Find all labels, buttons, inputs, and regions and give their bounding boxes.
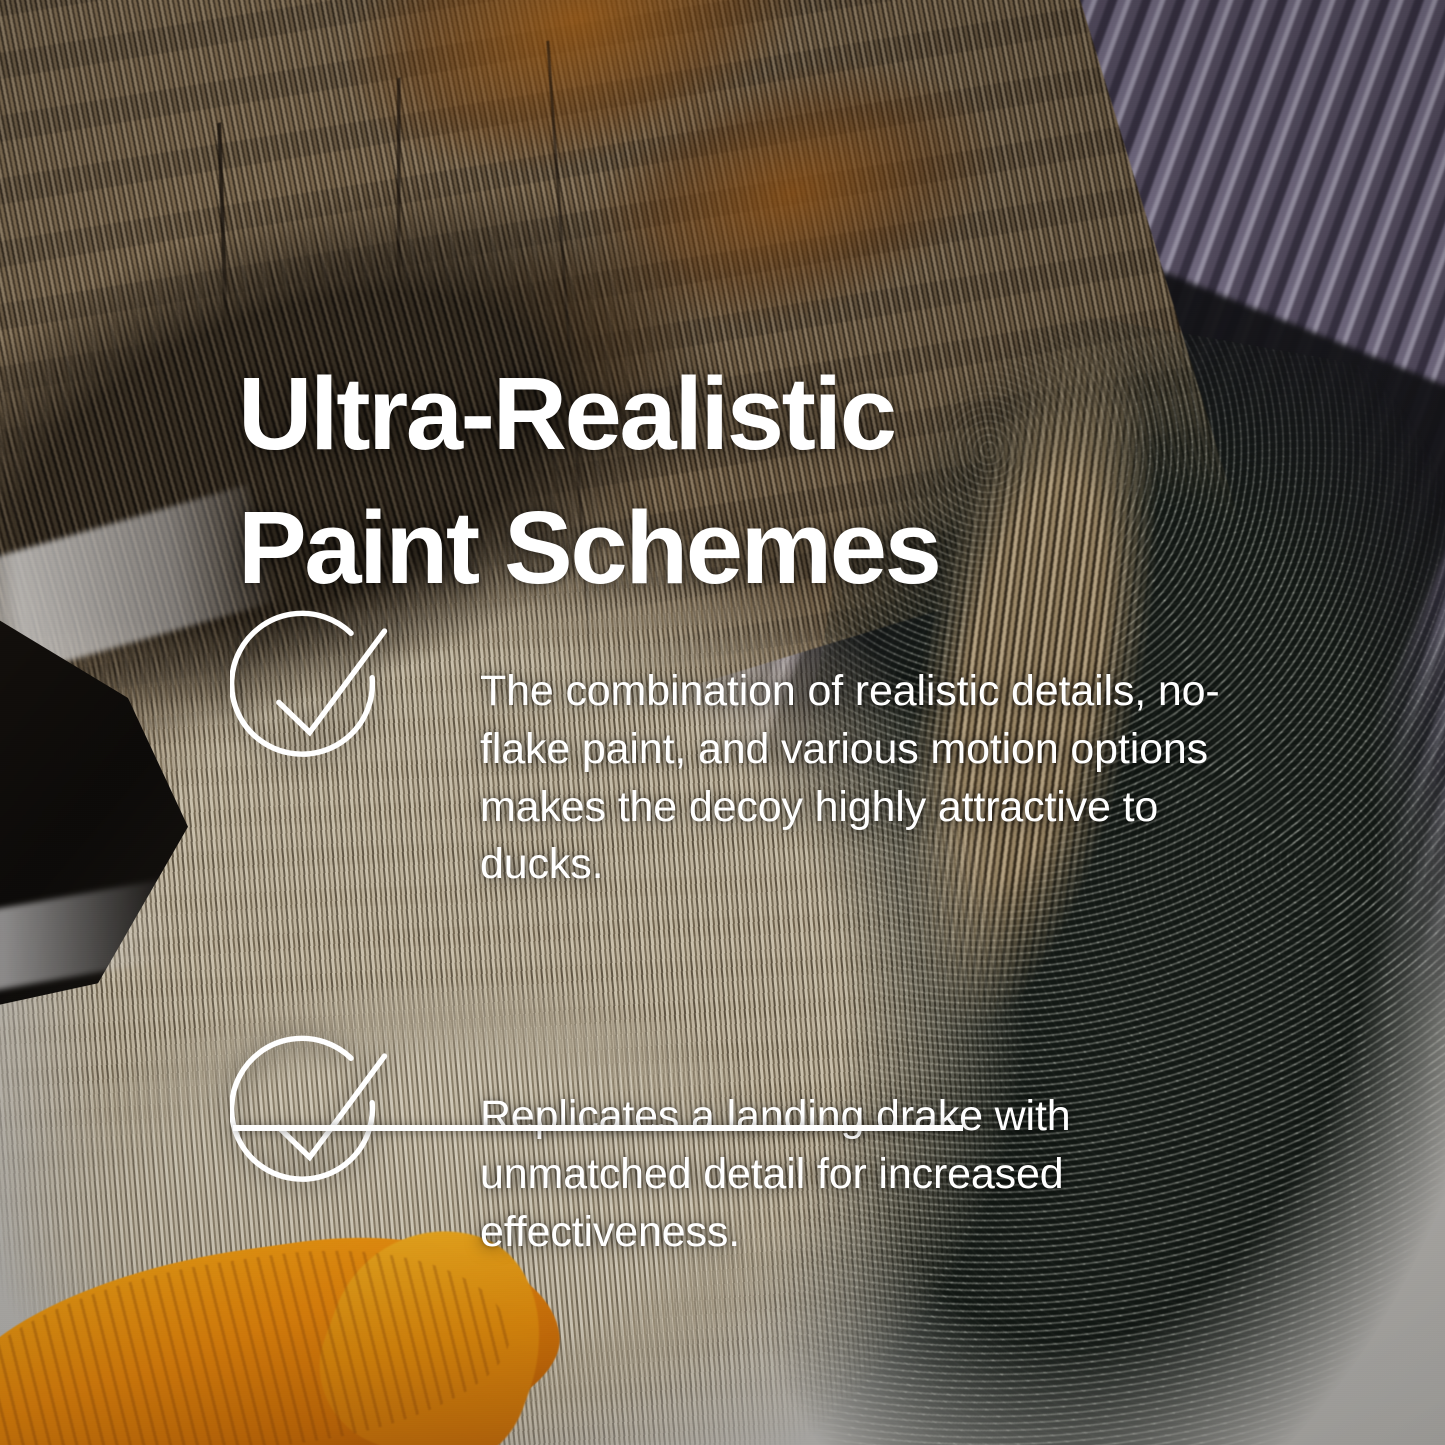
list-item-label: The combination of realistic details, no… bbox=[480, 651, 1240, 894]
product-feature-card: Ultra-Realistic Paint Schemes The combin… bbox=[0, 0, 1445, 1445]
feature-list: The combination of realistic details, no… bbox=[232, 608, 1242, 1305]
list-item: The combination of realistic details, no… bbox=[232, 608, 1242, 937]
check-circle-icon bbox=[230, 1035, 414, 1211]
list-item-label: Replicates a landing drake with unmatche… bbox=[480, 1076, 1240, 1261]
list-item: Replicates a landing drake with unmatche… bbox=[232, 1033, 1242, 1304]
page-title: Ultra-Realistic Paint Schemes bbox=[238, 347, 1118, 615]
overlay-content: Ultra-Realistic Paint Schemes The combin… bbox=[0, 0, 1445, 1445]
section-divider bbox=[233, 1125, 963, 1131]
check-circle-icon bbox=[230, 610, 414, 786]
